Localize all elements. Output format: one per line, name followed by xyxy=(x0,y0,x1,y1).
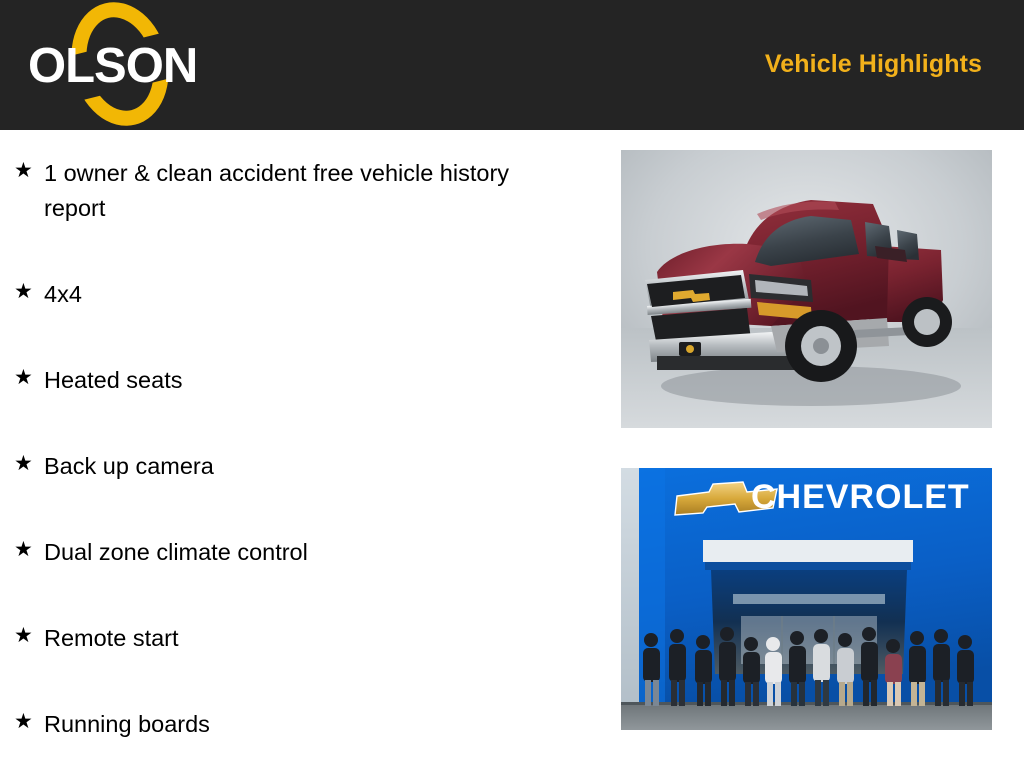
olson-logo[interactable]: OLSON xyxy=(12,0,222,130)
list-item-label: Remote start xyxy=(44,621,554,656)
list-item: ★ Back up camera xyxy=(0,449,600,484)
dealership-photo[interactable]: CHEVROLET xyxy=(621,468,992,730)
list-item-label: Heated seats xyxy=(44,363,554,398)
star-icon: ★ xyxy=(14,707,44,737)
vehicle-photo[interactable] xyxy=(621,150,992,428)
entrance-canopy xyxy=(703,540,913,562)
page-title: Vehicle Highlights xyxy=(765,50,982,79)
rear-wheel-rim xyxy=(914,309,940,335)
list-item: ★ Dual zone climate control xyxy=(0,535,600,570)
list-item-label: Running boards xyxy=(44,707,554,742)
list-item-label: Back up camera xyxy=(44,449,554,484)
plate-emblem xyxy=(686,345,694,353)
lower-valance xyxy=(657,356,809,370)
pavement xyxy=(621,704,992,730)
star-icon: ★ xyxy=(14,535,44,565)
list-item: ★ 1 owner & clean accident free vehicle … xyxy=(0,156,600,226)
star-icon: ★ xyxy=(14,363,44,393)
list-item-label: 4x4 xyxy=(44,277,554,312)
list-item: ★ Heated seats xyxy=(0,363,600,398)
vehicle-highlights-list: ★ 1 owner & clean accident free vehicle … xyxy=(0,130,600,742)
logo-wordmark: OLSON xyxy=(28,39,197,93)
list-item-label: Dual zone climate control xyxy=(44,535,554,570)
glass-mullion xyxy=(833,616,835,664)
list-item: ★ Running boards xyxy=(0,707,600,742)
showroom-glass xyxy=(741,616,877,664)
dealership-sign-text: CHEVROLET xyxy=(751,478,970,516)
star-icon: ★ xyxy=(14,156,44,186)
front-hub xyxy=(813,338,829,354)
list-item: ★ 4x4 xyxy=(0,277,600,312)
list-item-label: 1 owner & clean accident free vehicle hi… xyxy=(44,156,554,226)
page-header: OLSON Vehicle Highlights xyxy=(0,0,1024,130)
star-icon: ★ xyxy=(14,449,44,479)
star-icon: ★ xyxy=(14,621,44,651)
list-item: ★ Remote start xyxy=(0,621,600,656)
star-icon: ★ xyxy=(14,277,44,307)
canopy-shadow xyxy=(705,562,911,570)
interior-light-bar xyxy=(733,594,885,604)
